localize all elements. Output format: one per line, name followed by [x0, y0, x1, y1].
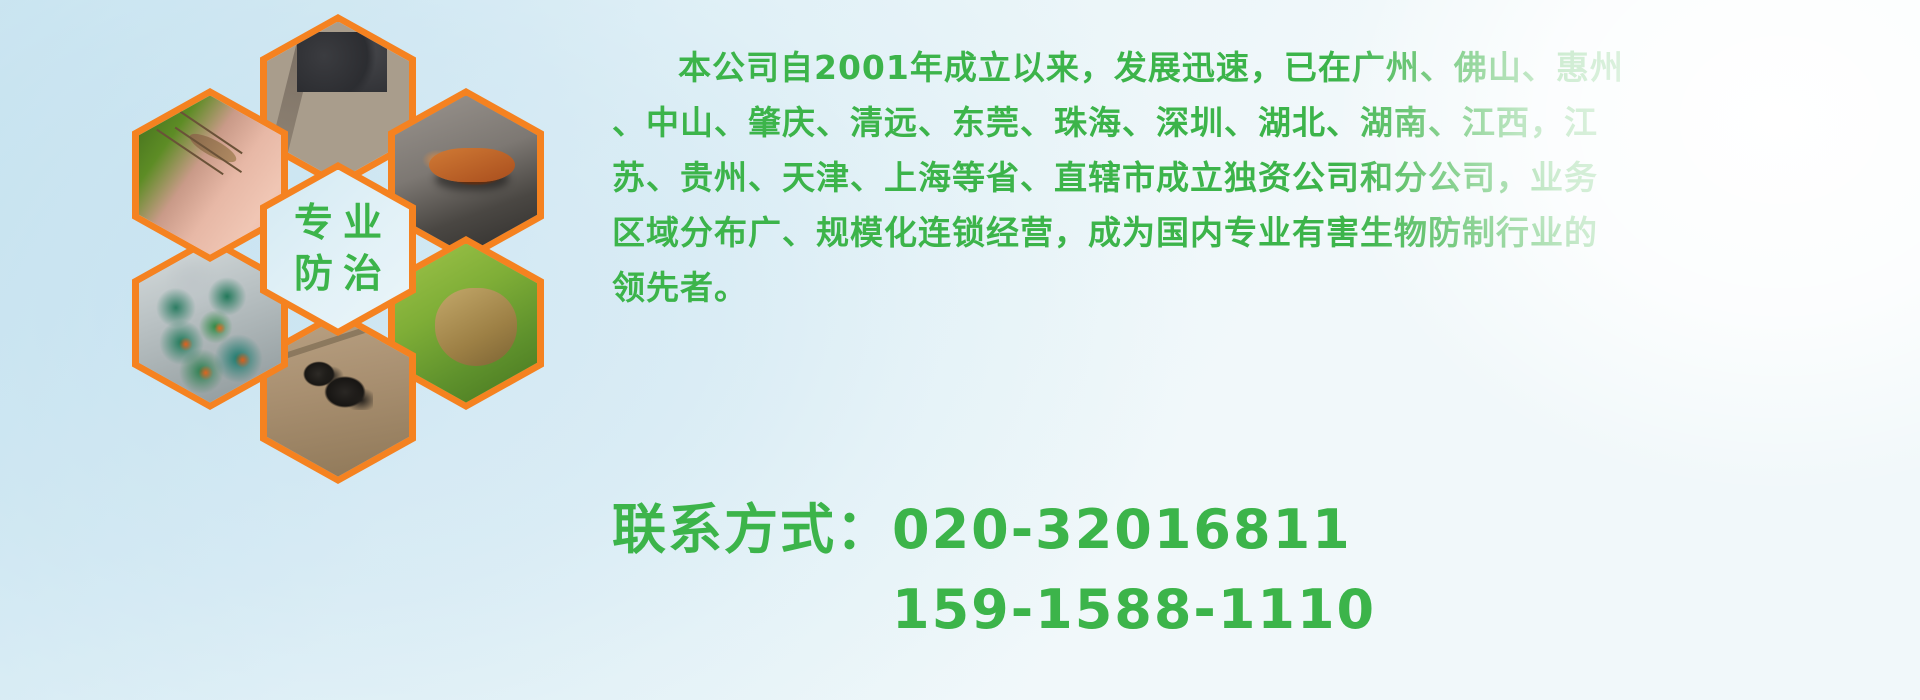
intro-line-2: 、中山、肇庆、清远、东莞、珠海、深圳、湖北、湖南、江西，江 [612, 95, 1862, 150]
intro-line-1: 本公司自2001年成立以来，发展迅速，已在广州、佛山、惠州 [612, 40, 1862, 95]
slogan-line-2: 防治 [284, 249, 392, 300]
cockroach-photo [395, 96, 537, 255]
intro-line-5: 领先者。 [612, 260, 1862, 315]
banner-canvas: 专业 防治 本公司自2001年成立以来，发展迅速，已在广州、佛山、惠州 、中山、… [0, 0, 1920, 700]
mosquito-photo [139, 96, 281, 255]
company-intro: 本公司自2001年成立以来，发展迅速，已在广州、佛山、惠州 、中山、肇庆、清远、… [612, 40, 1862, 315]
contact-phone-mobile[interactable]: 159-1588-1110 [612, 570, 1862, 650]
contact-block: 联系方式：020-32016811 159-1588-1110 [612, 490, 1862, 650]
intro-line-3: 苏、贵州、天津、上海等省、直辖市成立独资公司和分公司，业务 [612, 150, 1862, 205]
ant-photo [267, 318, 409, 477]
rat-photo [267, 22, 409, 181]
intro-line-4: 区域分布广、规模化连锁经营，成为国内专业有害生物防制行业的 [612, 205, 1862, 260]
contact-phone-landline[interactable]: 联系方式：020-32016811 [612, 490, 1862, 570]
honeycomb-logo: 专业 防治 [78, 0, 598, 580]
flies-photo [139, 244, 281, 403]
slogan-line-1: 专业 [284, 198, 392, 249]
stink-bug-photo [395, 244, 537, 403]
